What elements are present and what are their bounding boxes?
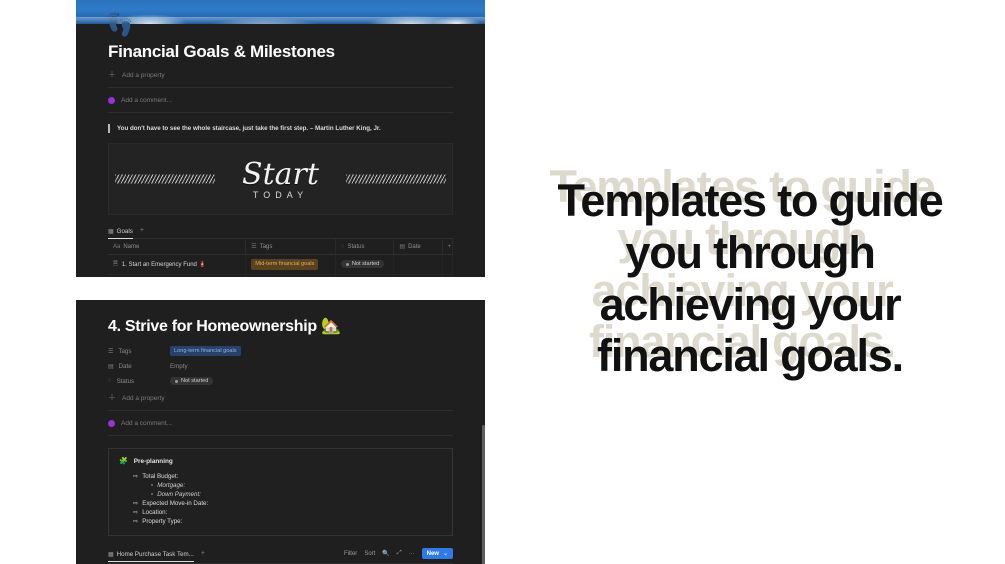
list-item[interactable]: ⇨Location: <box>133 509 442 516</box>
status-badge: Not started <box>341 260 384 268</box>
add-comment-label: Add a comment... <box>121 97 172 104</box>
add-property-button[interactable]: ＋ Add a property <box>108 394 453 402</box>
page-title: Financial Goals & Milestones <box>108 42 453 62</box>
divider <box>108 112 453 113</box>
expand-icon[interactable]: ⤢ <box>397 550 402 557</box>
cell-status[interactable]: Not started <box>335 255 394 274</box>
cell-status[interactable]: Not started <box>335 274 394 277</box>
cell-date[interactable] <box>394 274 442 277</box>
callout-list: ⇨Total Budget: ▫Mortgage: ▫Down Payment:… <box>119 473 442 525</box>
notion-page-financial-goals[interactable]: 👣 Financial Goals & Milestones ＋ Add a p… <box>76 0 485 277</box>
square-bullet-icon: ▫ <box>151 482 153 489</box>
plus-icon: ＋ <box>108 394 116 402</box>
today-caption: TODAY <box>253 190 308 200</box>
property-list: ☰Tags Long-term financial goals ▤Date Em… <box>108 346 453 385</box>
cell-name[interactable]: 🗎2. Pay Off Debt 💸 <box>108 274 246 277</box>
calendar-icon: ▤ <box>399 244 405 250</box>
tab-goals[interactable]: ▦ Goals <box>108 228 133 239</box>
col-name[interactable]: AaName <box>108 239 246 255</box>
status-dot <box>175 380 178 383</box>
add-view-button[interactable]: + <box>201 550 205 557</box>
table-header-row: AaName ☰Tags ◌Status ▤Date + <box>108 239 453 255</box>
search-icon[interactable]: 🔍 <box>382 550 389 557</box>
add-view-button[interactable]: + <box>140 227 144 234</box>
hatch-left <box>115 175 215 184</box>
property-key: Date <box>119 363 132 370</box>
cell-tags[interactable]: Mid-term financial goals <box>246 255 336 274</box>
tab-label: Home Purchase Task Tem... <box>117 551 194 558</box>
goals-database[interactable]: ▦ Goals + AaName ☰Tags ◌Status ▤Date + <box>108 227 453 277</box>
list-item[interactable]: ⇨Total Budget: <box>133 473 442 480</box>
col-date[interactable]: ▤Date <box>394 239 442 255</box>
quote-bar <box>108 124 110 133</box>
add-property-label: Add a property <box>122 72 165 79</box>
add-comment-row[interactable]: Add a comment... <box>108 420 453 427</box>
status-badge[interactable]: Not started <box>170 377 213 385</box>
slide-canvas: 👣 Financial Goals & Milestones ＋ Add a p… <box>0 0 1005 564</box>
status-icon: ◌ <box>108 378 112 384</box>
square-bullet-icon: ▫ <box>151 491 153 498</box>
list-item[interactable]: ▫Mortgage: <box>151 482 442 489</box>
start-script-word: Start <box>242 160 319 190</box>
col-tags[interactable]: ☰Tags <box>246 239 336 255</box>
cell-tags[interactable]: Mid-term financial goals <box>246 274 336 277</box>
database-tabbar[interactable]: ▦ Goals + <box>108 227 453 239</box>
divider <box>108 435 453 436</box>
property-key: Status <box>117 378 135 385</box>
divider <box>108 410 453 411</box>
cover-image: 👣 <box>76 0 485 24</box>
table-row[interactable]: 🗎2. Pay Off Debt 💸 Mid-term financial go… <box>108 274 453 277</box>
arrow-icon: ⇨ <box>133 509 138 516</box>
new-button-label: New <box>427 551 439 557</box>
table-icon: ▦ <box>108 551 114 558</box>
property-row-status[interactable]: ◌Status Not started <box>108 377 453 385</box>
headline-block: Templates to guide you through achieving… <box>540 175 960 382</box>
headline-text: Templates to guide you through achieving… <box>540 175 960 382</box>
add-property-label: Add a property <box>122 395 165 402</box>
scrollbar-thumb[interactable] <box>482 425 485 564</box>
page-title: 4. Strive for Homeownership 🏡 <box>108 316 453 336</box>
database-tabbar[interactable]: ▦ Home Purchase Task Tem... + Filter Sor… <box>108 548 453 564</box>
status-icon: ◌ <box>341 244 345 250</box>
col-status[interactable]: ◌Status <box>335 239 394 255</box>
pre-planning-callout: 🧩 Pre-planning ⇨Total Budget: ▫Mortgage:… <box>108 448 453 536</box>
footprints-icon: 👣 <box>106 14 133 36</box>
list-item[interactable]: ▫Down Payment: <box>151 491 442 498</box>
sort-button[interactable]: Sort <box>364 551 375 557</box>
new-button[interactable]: New ⌄ <box>422 548 453 559</box>
chevron-down-icon[interactable]: ⌄ <box>443 550 448 557</box>
add-comment-row[interactable]: Add a comment... <box>108 97 453 104</box>
add-comment-label: Add a comment... <box>121 420 172 427</box>
add-property-button[interactable]: ＋ Add a property <box>108 71 453 79</box>
arrow-icon: ⇨ <box>133 473 138 480</box>
goals-table[interactable]: AaName ☰Tags ◌Status ▤Date + 🗎1. Start a… <box>108 239 453 277</box>
filter-button[interactable]: Filter <box>344 551 357 557</box>
notion-page-homeownership[interactable]: 4. Strive for Homeownership 🏡 ☰Tags Long… <box>76 300 485 564</box>
table-icon: ▦ <box>108 228 114 235</box>
cell-name[interactable]: 🗎1. Start an Emergency Fund 🧯 <box>108 255 246 274</box>
divider <box>108 87 453 88</box>
database-toolbar[interactable]: Filter Sort 🔍 ⤢ ··· New ⌄ <box>344 548 453 559</box>
tag-badge: Mid-term financial goals <box>251 259 318 269</box>
plus-icon: + <box>448 244 452 250</box>
quote-block: You don't have to see the whole staircas… <box>108 124 453 133</box>
cell-spacer <box>442 255 452 274</box>
property-value[interactable]: Empty <box>170 363 188 370</box>
avatar <box>108 420 115 427</box>
hatch-right <box>346 175 446 184</box>
more-options-button[interactable]: ··· <box>409 551 415 557</box>
quote-text: You don't have to see the whole staircas… <box>117 124 381 133</box>
property-row-tags[interactable]: ☰Tags Long-term financial goals <box>108 346 453 356</box>
col-add[interactable]: + <box>442 239 452 255</box>
list-item[interactable]: ⇨Expected Move-in Date: <box>133 500 442 507</box>
property-key: Tags <box>118 348 131 355</box>
arrow-icon: ⇨ <box>133 518 138 525</box>
aa-icon: Aa <box>113 244 120 250</box>
cell-date[interactable] <box>394 255 442 274</box>
status-dot <box>346 263 349 266</box>
plus-icon: ＋ <box>108 71 116 79</box>
tab-home-purchase-task-template[interactable]: ▦ Home Purchase Task Tem... <box>108 551 194 562</box>
puzzle-icon: 🧩 <box>119 457 128 465</box>
callout-heading: Pre-planning <box>134 458 173 465</box>
arrow-icon: ⇨ <box>133 500 138 507</box>
vertical-scrollbar[interactable] <box>482 300 485 564</box>
list-icon: ☰ <box>251 244 256 250</box>
list-icon: ☰ <box>108 348 113 355</box>
property-row-date[interactable]: ▤Date Empty <box>108 363 453 370</box>
tag-badge[interactable]: Long-term financial goals <box>170 346 241 356</box>
callout-heading-row: 🧩 Pre-planning <box>119 457 442 465</box>
list-item[interactable]: ⇨Property Type: <box>133 518 442 525</box>
avatar <box>108 97 115 104</box>
table-row[interactable]: 🗎1. Start an Emergency Fund 🧯 Mid-term f… <box>108 255 453 274</box>
task-template-database[interactable]: ▦ Home Purchase Task Tem... + Filter Sor… <box>108 548 453 564</box>
start-today-image: Start TODAY <box>108 143 453 215</box>
tab-goals-label: Goals <box>117 228 133 235</box>
document-icon: 🗎 <box>113 259 118 269</box>
calendar-icon: ▤ <box>108 363 114 370</box>
cell-spacer <box>442 274 452 277</box>
